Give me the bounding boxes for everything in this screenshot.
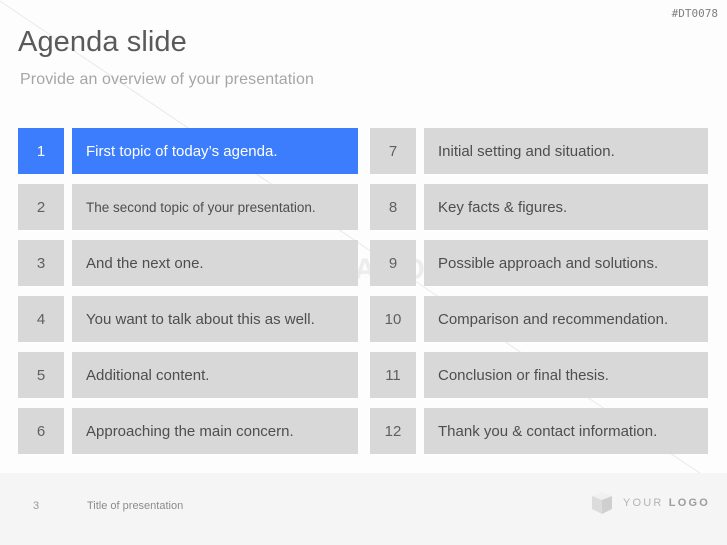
footer-presentation-title: Title of presentation [87,500,183,512]
agenda-item-label: First topic of today’s agenda. [72,128,358,174]
slide-canvas: PRESENTATIONLOAD #DT0078 Agenda slide Pr… [0,0,727,545]
logo-word-logo: LOGO [669,497,710,509]
agenda-row[interactable]: 6Approaching the main concern. [18,408,358,454]
agenda-row[interactable]: 10Comparison and recommendation. [370,296,708,342]
agenda-item-number: 1 [18,128,64,174]
agenda-item-label: And the next one. [72,240,358,286]
agenda-column-left: 1First topic of today’s agenda.2The seco… [18,128,358,464]
agenda-row[interactable]: 5Additional content. [18,352,358,398]
agenda-item-label: Approaching the main concern. [72,408,358,454]
agenda-row[interactable]: 1First topic of today’s agenda. [18,128,358,174]
agenda-item-label: Conclusion or final thesis. [424,352,708,398]
agenda-row[interactable]: 3And the next one. [18,240,358,286]
agenda-row[interactable]: 11Conclusion or final thesis. [370,352,708,398]
logo-placeholder: YOUR LOGO [591,491,710,515]
page-title: Agenda slide [18,27,187,59]
agenda-row[interactable]: 8Key facts & figures. [370,184,708,230]
agenda-item-number: 6 [18,408,64,454]
agenda-item-label: Comparison and recommendation. [424,296,708,342]
agenda-item-label: Possible approach and solutions. [424,240,708,286]
agenda-column-right: 7Initial setting and situation.8Key fact… [370,128,708,464]
agenda-item-label: Additional content. [72,352,358,398]
agenda-item-number: 2 [18,184,64,230]
agenda-item-label: You want to talk about this as well. [72,296,358,342]
agenda-row[interactable]: 7Initial setting and situation. [370,128,708,174]
agenda-item-number: 7 [370,128,416,174]
agenda-item-label: Key facts & figures. [424,184,708,230]
agenda-item-number: 10 [370,296,416,342]
agenda-item-label: The second topic of your presentation. [72,184,358,230]
page-subtitle: Provide an overview of your presentation [20,71,314,89]
agenda-row[interactable]: 12Thank you & contact information. [370,408,708,454]
slide-footer: 3 Title of presentation YOUR LOGO [0,473,727,545]
template-id-code: #DT0078 [672,7,718,20]
agenda-item-number: 4 [18,296,64,342]
footer-page-number: 3 [33,500,39,512]
agenda-item-number: 11 [370,352,416,398]
agenda-item-number: 5 [18,352,64,398]
logo-word-your: YOUR [623,497,664,509]
agenda-item-number: 12 [370,408,416,454]
agenda-row[interactable]: 2The second topic of your presentation. [18,184,358,230]
agenda-row[interactable]: 9Possible approach and solutions. [370,240,708,286]
agenda-item-number: 9 [370,240,416,286]
logo-text: YOUR LOGO [623,497,710,509]
agenda-item-label: Thank you & contact information. [424,408,708,454]
agenda-item-number: 3 [18,240,64,286]
agenda-item-number: 8 [370,184,416,230]
agenda-item-label: Initial setting and situation. [424,128,708,174]
agenda-row[interactable]: 4You want to talk about this as well. [18,296,358,342]
cube-icon [591,491,613,515]
